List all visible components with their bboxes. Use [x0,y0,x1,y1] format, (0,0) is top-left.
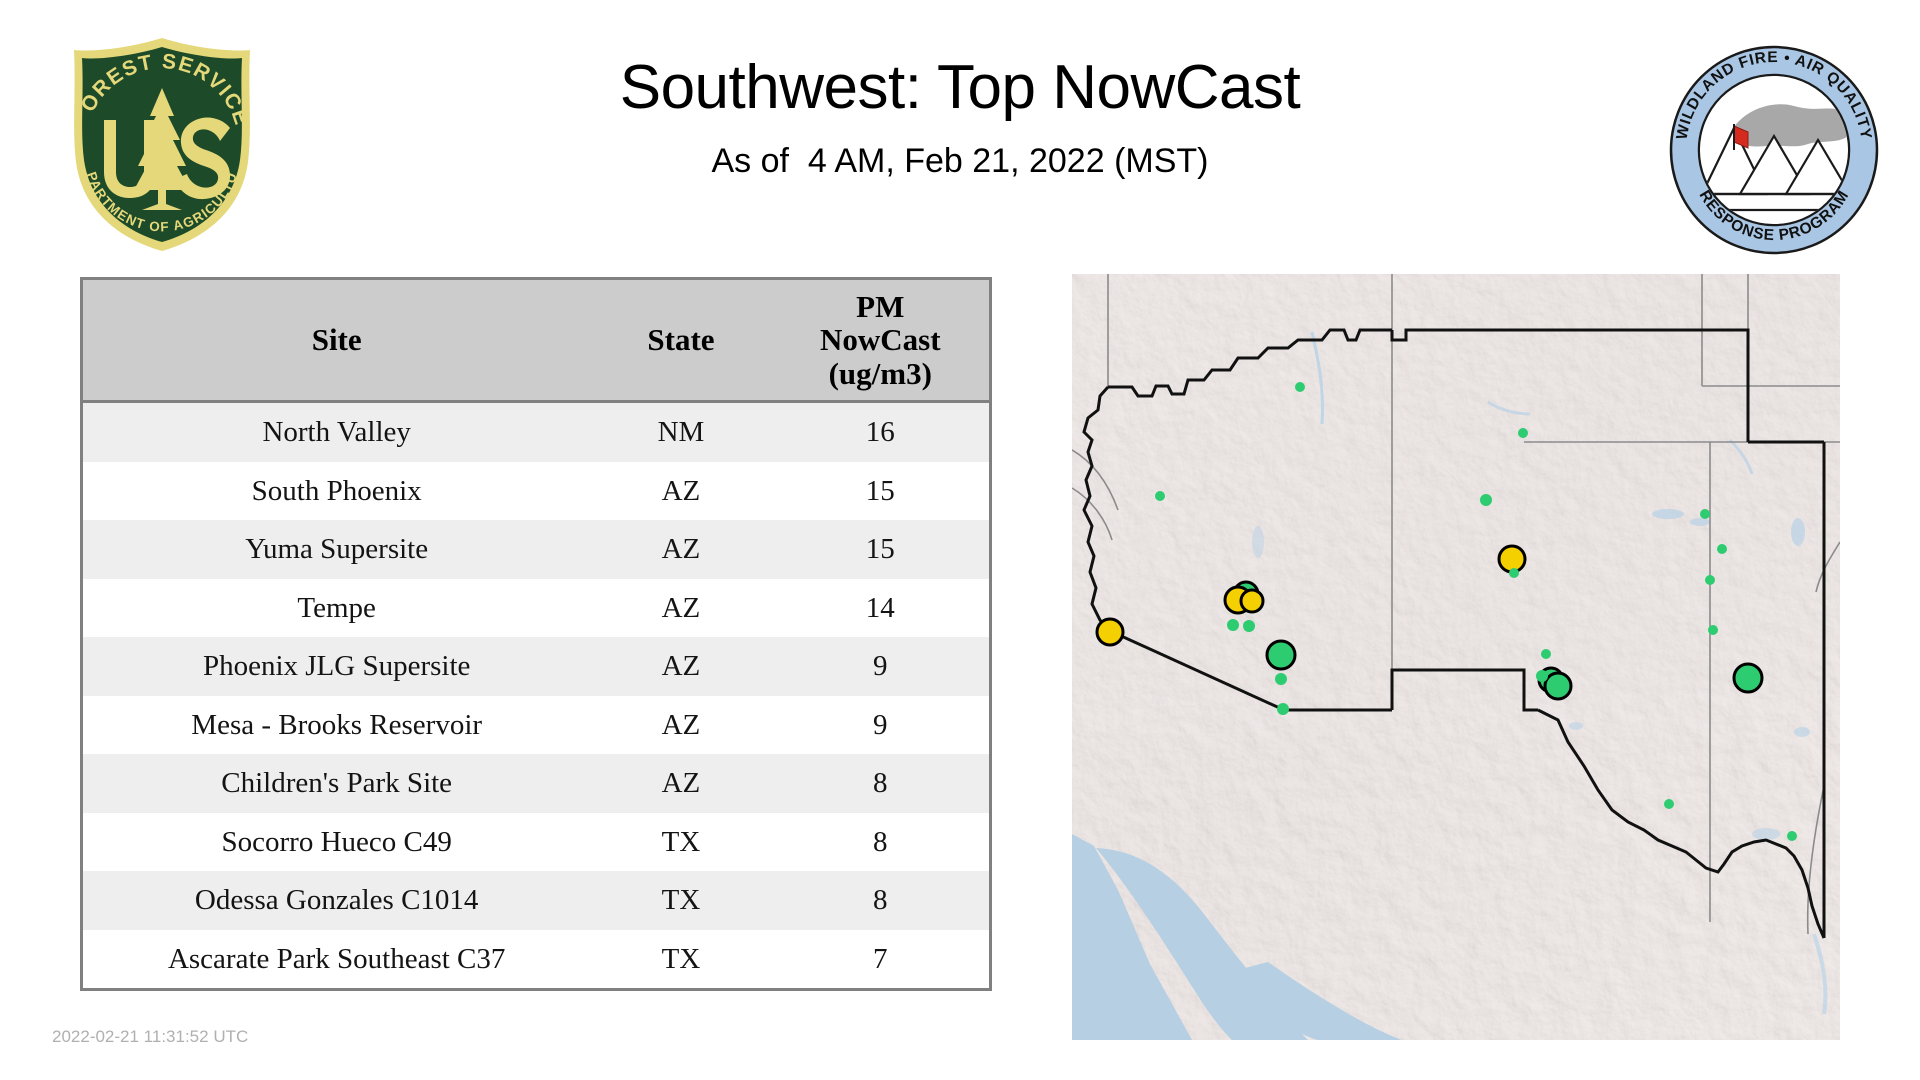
table-row: TempeAZ14 [83,579,989,638]
table-cell-pm: 8 [772,871,989,930]
table-cell-state: AZ [590,462,771,521]
monitor-marker[interactable] [1536,670,1548,682]
table-header-row: Site State PM NowCast (ug/m3) [83,280,989,402]
monitor-marker[interactable] [1705,575,1715,585]
monitor-marker[interactable] [1241,590,1263,612]
table-row: Ascarate Park Southeast C37TX7 [83,930,989,989]
wfaqrp-logo: WILDLAND FIRE • AIR QUALITY RESPONSE PRO… [1668,44,1880,256]
table-cell-pm: 9 [772,637,989,696]
monitor-marker[interactable] [1155,491,1165,501]
table-row: Odessa Gonzales C1014TX8 [83,871,989,930]
table-cell-pm: 15 [772,520,989,579]
table-cell-site: Tempe [83,579,590,638]
table-cell-state: AZ [590,637,771,696]
nowcast-table: Site State PM NowCast (ug/m3) North Vall… [83,280,989,988]
us-forest-service-logo: FOREST SERVICE DEPARTMENT OF AGRICULTURE [52,32,272,257]
table-cell-pm: 8 [772,813,989,872]
table-cell-state: TX [590,930,771,989]
page-header: FOREST SERVICE DEPARTMENT OF AGRICULTURE… [0,0,1920,265]
monitor-marker[interactable] [1734,664,1762,692]
table-cell-pm: 7 [772,930,989,989]
table-cell-pm: 15 [772,462,989,521]
monitor-marker[interactable] [1545,673,1571,699]
table-cell-pm: 14 [772,579,989,638]
table-row: Children's Park SiteAZ8 [83,754,989,813]
table-cell-site: Yuma Supersite [83,520,590,579]
monitor-marker[interactable] [1717,544,1727,554]
table-cell-pm: 9 [772,696,989,755]
table-header: Site State PM NowCast (ug/m3) [83,280,989,402]
table-row: Mesa - Brooks ReservoirAZ9 [83,696,989,755]
table-cell-site: South Phoenix [83,462,590,521]
monitor-marker[interactable] [1787,831,1797,841]
table-cell-pm: 16 [772,402,989,462]
monitor-marker[interactable] [1700,509,1710,519]
monitor-marker[interactable] [1664,799,1674,809]
table-row: Yuma SupersiteAZ15 [83,520,989,579]
table-cell-state: TX [590,871,771,930]
column-header-site: Site [83,280,590,402]
table-cell-site: Socorro Hueco C49 [83,813,590,872]
monitor-marker[interactable] [1267,641,1295,669]
table-row: Phoenix JLG SupersiteAZ9 [83,637,989,696]
table-cell-site: North Valley [83,402,590,462]
table-row: Socorro Hueco C49TX8 [83,813,989,872]
table-cell-state: NM [590,402,771,462]
monitor-marker[interactable] [1227,619,1239,631]
monitor-marker[interactable] [1295,382,1305,392]
title-block: Southwest: Top NowCast As of 4 AM, Feb 2… [260,55,1660,181]
table-cell-site: Odessa Gonzales C1014 [83,871,590,930]
monitor-marker[interactable] [1509,568,1519,578]
column-header-state: State [590,280,771,402]
table-row: North ValleyNM16 [83,402,989,462]
monitor-marker[interactable] [1243,620,1255,632]
page-title: Southwest: Top NowCast [260,55,1660,120]
monitor-marker[interactable] [1541,649,1551,659]
column-header-pm-line2: NowCast [776,323,985,356]
monitor-marker[interactable] [1275,673,1287,685]
column-header-pm-nowcast: PM NowCast (ug/m3) [772,280,989,402]
monitor-marker[interactable] [1097,619,1123,645]
table-cell-site: Ascarate Park Southeast C37 [83,930,590,989]
generation-timestamp: 2022-02-21 11:31:52 UTC [52,1027,248,1047]
table-cell-pm: 8 [772,754,989,813]
table-cell-state: AZ [590,754,771,813]
table-cell-site: Mesa - Brooks Reservoir [83,696,590,755]
table-cell-site: Phoenix JLG Supersite [83,637,590,696]
table-cell-state: AZ [590,520,771,579]
map-terrain-shading-fine [1072,274,1840,694]
nowcast-table-container: Site State PM NowCast (ug/m3) North Vall… [80,277,992,991]
monitor-marker[interactable] [1499,546,1525,572]
table-cell-state: TX [590,813,771,872]
table-row: South PhoenixAZ15 [83,462,989,521]
column-header-pm-line1: PM [776,290,985,323]
table-cell-state: AZ [590,696,771,755]
monitor-marker[interactable] [1518,428,1528,438]
monitor-marker[interactable] [1480,494,1492,506]
table-cell-state: AZ [590,579,771,638]
monitor-marker[interactable] [1277,703,1289,715]
monitor-marker[interactable] [1708,625,1718,635]
table-body: North ValleyNM16South PhoenixAZ15Yuma Su… [83,402,989,989]
air-quality-map[interactable]: Air Quality Index HazardousVery Unhealth… [1072,274,1840,1040]
column-header-pm-line3: (ug/m3) [776,357,985,390]
page-subtitle: As of 4 AM, Feb 21, 2022 (MST) [260,142,1660,181]
table-cell-site: Children's Park Site [83,754,590,813]
